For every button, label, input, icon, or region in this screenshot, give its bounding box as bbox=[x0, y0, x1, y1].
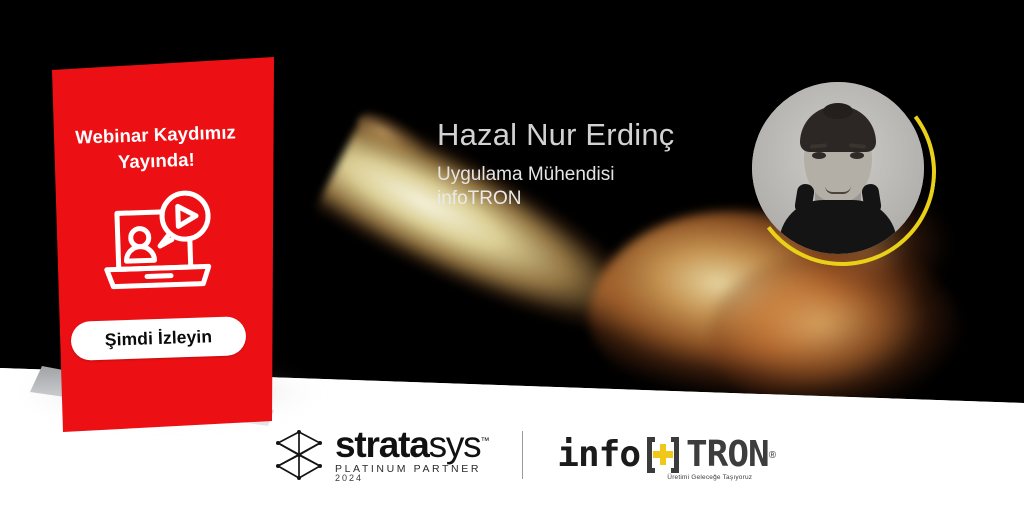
webinar-laptop-play-icon bbox=[98, 188, 222, 302]
stratasys-trademark: ™ bbox=[480, 435, 488, 445]
infotron-logo: info TRON ® Üretimi Geleceğe Taşıyoruz bbox=[557, 431, 776, 479]
speaker-avatar bbox=[752, 82, 924, 254]
partner-logo-row: stratasys™ PLATINUM PARTNER 2024 info TR… bbox=[276, 424, 776, 486]
flame-tip bbox=[350, 103, 447, 176]
speaker-role: Uygulama Mühendisi bbox=[437, 163, 767, 186]
webinar-banner: Hazal Nur Erdinç Uygulama Mühendisi info… bbox=[0, 0, 1024, 520]
logo-divider bbox=[522, 431, 523, 479]
stratasys-word-light: sys bbox=[429, 424, 481, 465]
speaker-name: Hazal Nur Erdinç bbox=[437, 118, 767, 151]
speaker-info: Hazal Nur Erdinç Uygulama Mühendisi info… bbox=[437, 118, 767, 210]
stratasys-wordmark: stratasys™ PLATINUM PARTNER 2024 bbox=[335, 427, 488, 484]
speaker-company: infoTRON bbox=[437, 187, 767, 210]
promo-card-content: Webinar Kaydımız Yayında! Şimdi İzleyin bbox=[38, 57, 274, 432]
infotron-word-suffix: TRON bbox=[686, 437, 769, 473]
promo-title: Webinar Kaydımız Yayında! bbox=[37, 118, 275, 177]
watch-now-button[interactable]: Şimdi İzleyin bbox=[70, 316, 246, 361]
stratasys-partner-year: 2024 bbox=[335, 474, 488, 483]
infotron-registered-mark: ® bbox=[769, 450, 776, 461]
infotron-tagline: Üretimi Geleceğe Taşıyoruz bbox=[667, 474, 752, 481]
stratasys-word-bold: strata bbox=[335, 424, 429, 465]
infotron-word-prefix: info bbox=[557, 437, 640, 473]
infotron-plus-badge-icon bbox=[641, 431, 685, 479]
